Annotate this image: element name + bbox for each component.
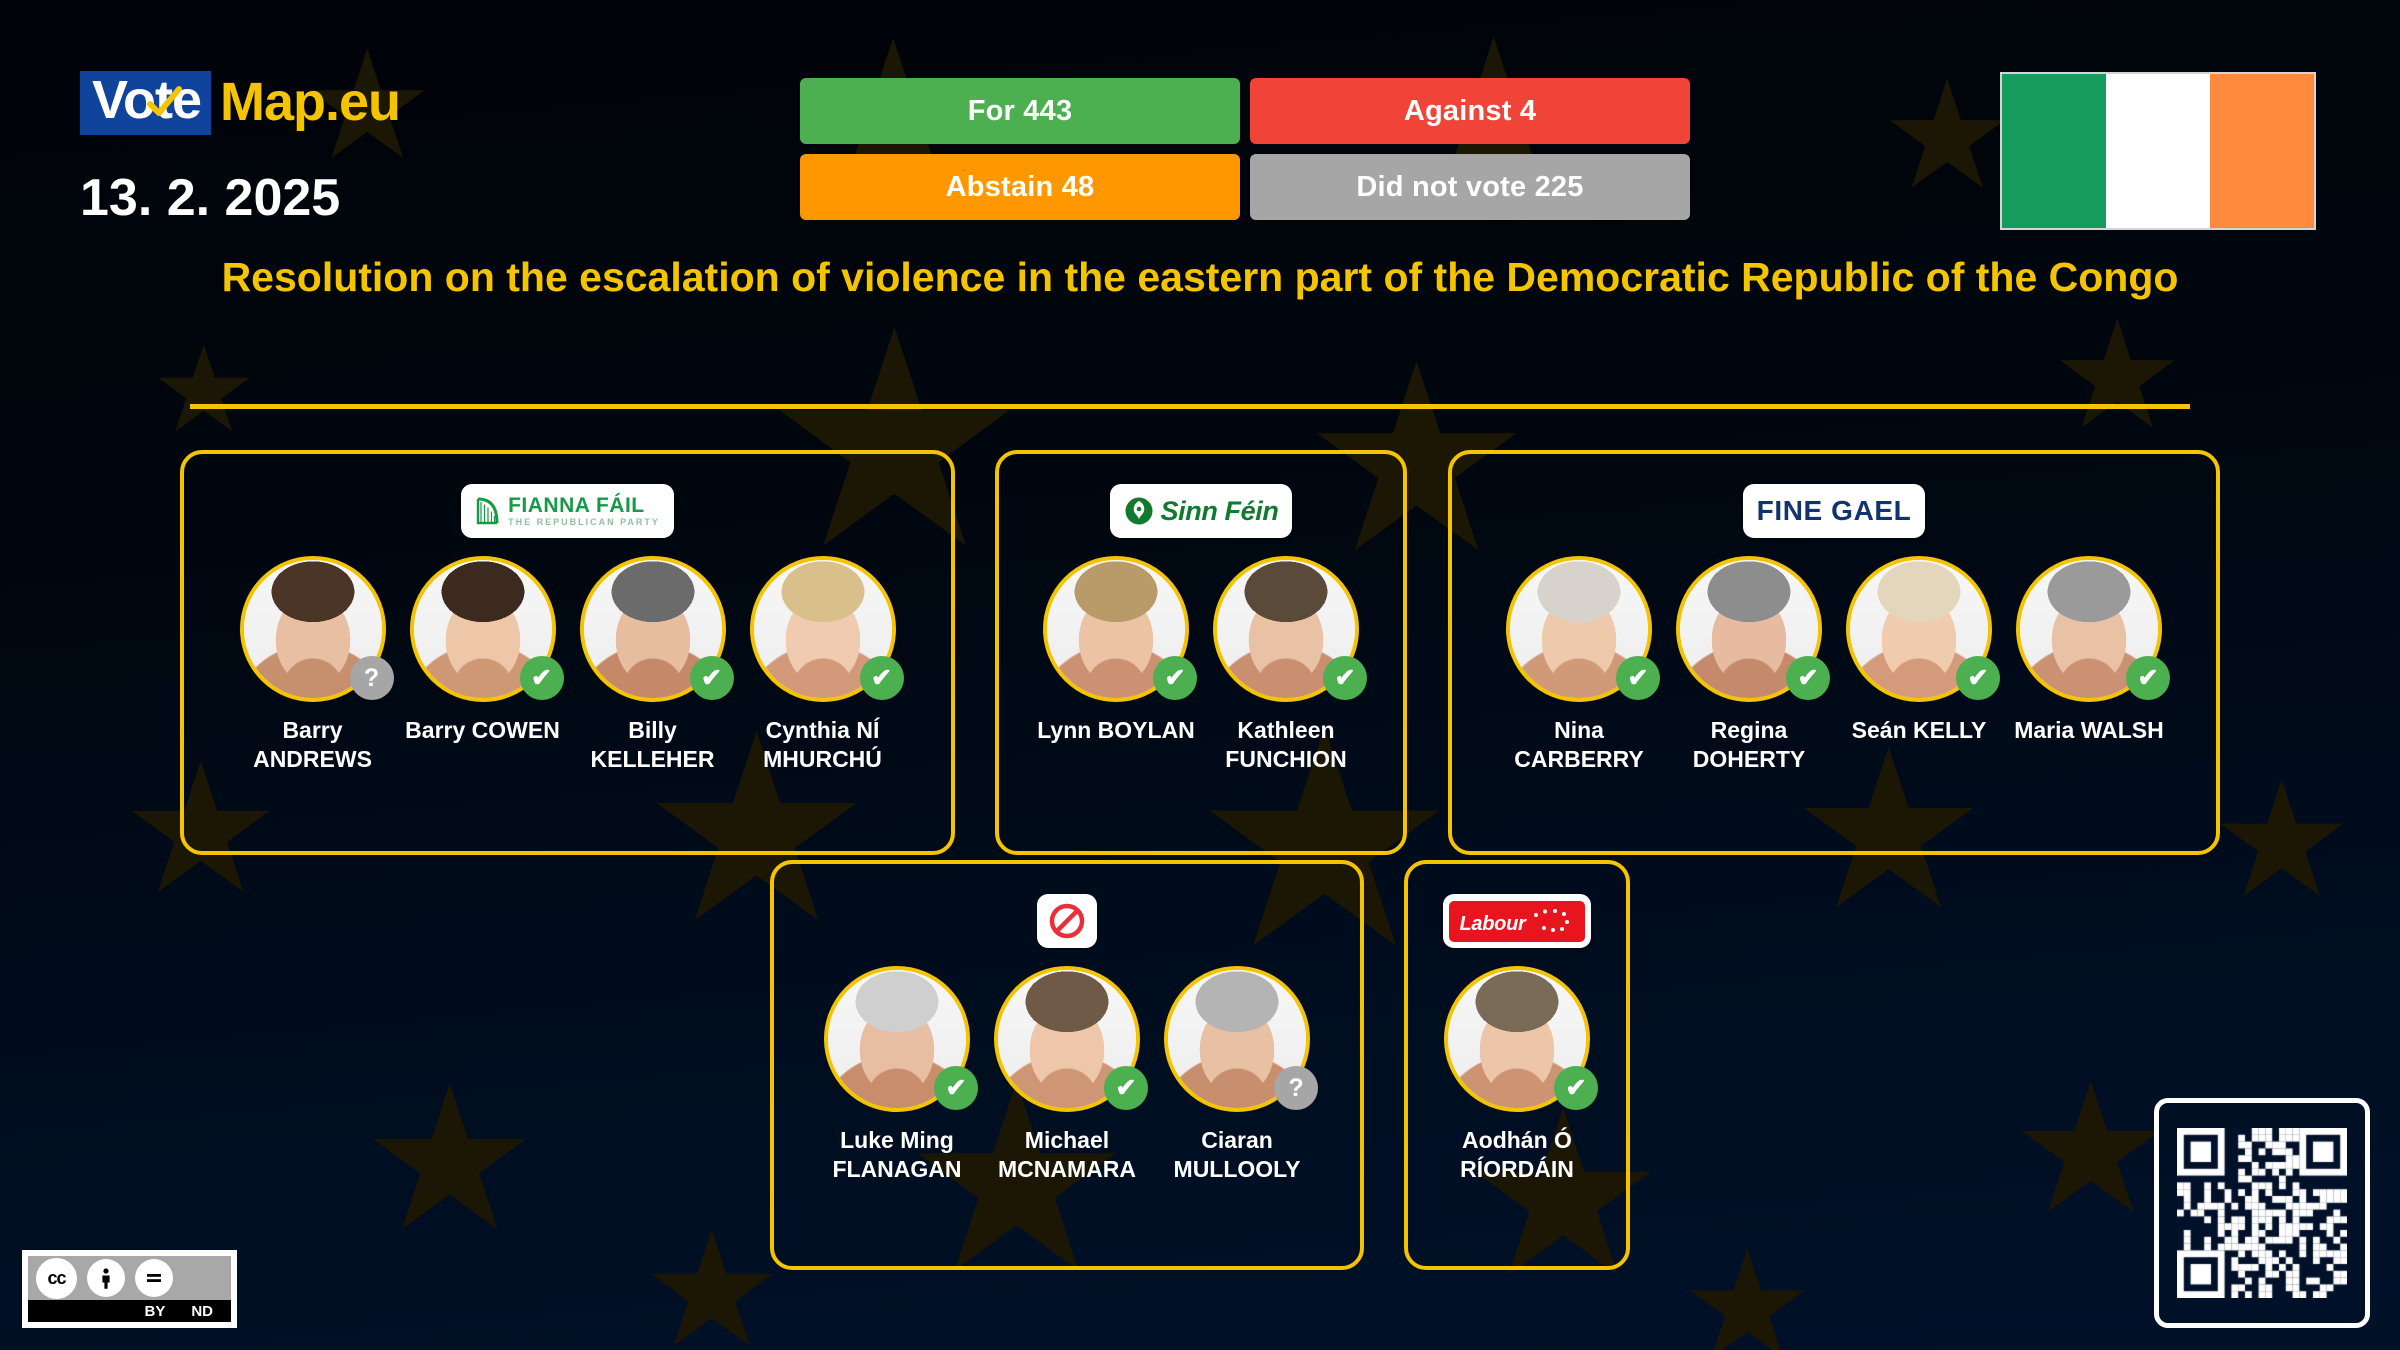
mep-card[interactable]: ✔Luke Ming FLANAGAN [812,966,982,1185]
mep-card[interactable]: ✔Michael MCNAMARA [982,966,1152,1185]
tally-abstain[interactable]: Abstain 48 [800,154,1240,220]
mep-card[interactable]: ✔Seán KELLY [1834,556,2004,745]
ireland-flag [2000,72,2316,230]
logo-vote-text: Vote [80,71,211,134]
mep-card[interactable]: ✔Nina CARBERRY [1494,556,1664,775]
site-logo[interactable]: Vote Map.eu [80,72,400,134]
background-star: ★ [640,1210,783,1350]
harp-icon [475,496,501,526]
vote-status-badge-for: ✔ [1153,656,1197,700]
party-panel-independents: ✔Luke Ming FLANAGAN✔Michael MCNAMARA?Cia… [770,860,1364,1270]
mep-name: Luke Ming FLANAGAN [832,1126,961,1185]
party-name: Labour [1460,913,1526,936]
background-star: ★ [360,1060,539,1260]
mep-name: Aodhán Ó RÍORDÁIN [1460,1126,1574,1185]
cc-icon: cc [36,1258,77,1299]
mep-name: Regina DOHERTY [1693,716,1805,775]
mep-name: Ciaran MULLOOLY [1174,1126,1301,1185]
mep-card[interactable]: ✔Billy KELLEHER [568,556,738,775]
votemap-poster: ★★★★★★★★★★★★★★★★★★★ Vote Map.eu 13. 2. 2… [0,0,2400,1350]
mep-row: ✔Nina CARBERRY✔Regina DOHERTY✔Seán KELLY… [1482,556,2186,775]
vote-status-badge-did-not-vote: ? [350,656,394,700]
mep-name: Maria WALSH [2014,716,2164,745]
avatar: ✔ [1846,556,1992,702]
party-name: FIANNA FÁIL [508,495,645,516]
mep-row: ✔Lynn BOYLAN✔Kathleen FUNCHION [1019,556,1383,775]
avatar: ✔ [994,966,1140,1112]
avatar: ✔ [750,556,896,702]
mep-card[interactable]: ✔Lynn BOYLAN [1031,556,1201,745]
tally-did-not-vote[interactable]: Did not vote 225 [1250,154,1690,220]
qr-code-canvas [2177,1128,2347,1298]
party-tagline: THE REPUBLICAN PARTY [508,518,660,527]
flag-stripe-white [2106,74,2210,228]
avatar: ✔ [1506,556,1652,702]
cc-licence-badge[interactable]: cc BY ND [22,1250,237,1328]
avatar: ✔ [1676,556,1822,702]
background-star: ★ [2210,760,2353,920]
flag-stripe-orange [2210,74,2314,228]
mep-name: Barry COWEN [405,716,560,745]
party-panel-fine-gael: FINE GAEL✔Nina CARBERRY✔Regina DOHERTY✔S… [1448,450,2220,855]
mep-card[interactable]: ?Ciaran MULLOOLY [1152,966,1322,1185]
vote-status-badge-for: ✔ [860,656,904,700]
party-panel-sinn-fein: Sinn Féin✔Lynn BOYLAN✔Kathleen FUNCHION [995,450,1407,855]
fianna-fail-logo[interactable]: FIANNA FÁILTHE REPUBLICAN PARTY [461,484,674,538]
cc-nd-icon [135,1259,173,1297]
tally-against[interactable]: Against 4 [1250,78,1690,144]
vote-status-badge-for: ✔ [1786,656,1830,700]
vote-tally: For 443 Against 4 Abstain 48 Did not vot… [800,78,1690,220]
party-panel-labour: Labour✔Aodhán Ó RÍORDÁIN [1404,860,1630,1270]
avatar: ? [240,556,386,702]
vote-status-badge-for: ✔ [690,656,734,700]
party-panel-fianna-fail: FIANNA FÁILTHE REPUBLICAN PARTY?Barry AN… [180,450,955,855]
mep-name: Nina CARBERRY [1514,716,1644,775]
qr-code[interactable] [2154,1098,2370,1328]
vote-status-badge-for: ✔ [1616,656,1660,700]
vote-status-badge-for: ✔ [934,1066,978,1110]
tally-for[interactable]: For 443 [800,78,1240,144]
vote-status-badge-for: ✔ [1323,656,1367,700]
vote-status-badge-for: ✔ [520,656,564,700]
avatar: ✔ [824,966,970,1112]
mep-name: Barry ANDREWS [253,716,372,775]
cc-by-icon [87,1259,125,1297]
sinn-fein-logo[interactable]: Sinn Féin [1110,484,1293,538]
mep-row: ✔Aodhán Ó RÍORDÁIN [1420,966,1614,1185]
no-party-icon [1047,901,1087,941]
header-divider [190,404,2190,409]
labour-logo[interactable]: Labour [1443,894,1592,948]
mep-card[interactable]: ✔Regina DOHERTY [1664,556,1834,775]
vote-status-badge-for: ✔ [1956,656,2000,700]
mep-name: Seán KELLY [1852,716,1987,745]
vote-status-badge-did-not-vote: ? [1274,1066,1318,1110]
mep-name: Billy KELLEHER [591,716,715,775]
mep-card[interactable]: ✔Aodhán Ó RÍORDÁIN [1432,966,1602,1185]
background-star: ★ [1680,1230,1814,1350]
logo-map-text: Map.eu [211,75,400,130]
background-star: ★ [1880,60,2014,210]
cc-nd-label: ND [191,1303,213,1320]
mep-name: Lynn BOYLAN [1037,716,1195,745]
mep-name: Michael MCNAMARA [998,1126,1136,1185]
vote-date: 13. 2. 2025 [80,168,340,228]
background-star: ★ [2010,1060,2171,1240]
mep-name: Kathleen FUNCHION [1225,716,1346,775]
mep-card[interactable]: ✔Maria WALSH [2004,556,2174,745]
mep-card[interactable]: ✔Kathleen FUNCHION [1201,556,1371,775]
mep-name: Cynthia NÍ MHURCHÚ [763,716,882,775]
mep-row: ?Barry ANDREWS✔Barry COWEN✔Billy KELLEHE… [216,556,920,775]
fine-gael-logo[interactable]: FINE GAEL [1743,484,1926,538]
avatar: ? [1164,966,1310,1112]
labour-stars-icon [1528,906,1572,936]
cc-by-label: BY [144,1303,165,1320]
background-star: ★ [150,330,258,450]
background-star: ★ [2050,300,2184,450]
avatar: ✔ [1043,556,1189,702]
avatar: ✔ [2016,556,2162,702]
sinn-fein-mark-icon [1124,496,1154,526]
resolution-title: Resolution on the escalation of violence… [110,252,2290,303]
party-name: Sinn Féin [1161,496,1279,527]
party-name: FINE GAEL [1757,495,1912,527]
flag-stripe-green [2002,74,2106,228]
vote-status-badge-for: ✔ [1104,1066,1148,1110]
avatar: ✔ [1444,966,1590,1112]
vote-status-badge-for: ✔ [2126,656,2170,700]
mep-row: ✔Luke Ming FLANAGAN✔Michael MCNAMARA?Cia… [800,966,1334,1185]
vote-status-badge-for: ✔ [1554,1066,1598,1110]
avatar: ✔ [410,556,556,702]
avatar: ✔ [1213,556,1359,702]
avatar: ✔ [580,556,726,702]
mep-card[interactable]: ✔Cynthia NÍ MHURCHÚ [738,556,908,775]
mep-card[interactable]: ✔Barry COWEN [398,556,568,745]
no-party-icon[interactable] [1037,894,1097,948]
mep-card[interactable]: ?Barry ANDREWS [228,556,398,775]
